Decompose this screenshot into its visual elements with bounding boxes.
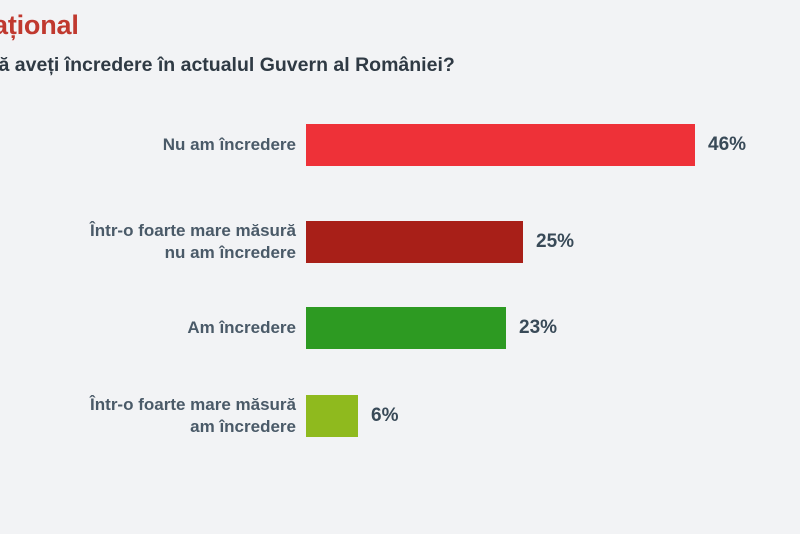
bar-category-label: Am încredere [0,317,306,339]
bar-track: 46% [306,124,800,166]
chart-header: laj național măsură aveți încredere în a… [0,8,800,78]
bar-category-label: Într-o foarte mare măsură nu am încreder… [0,220,306,264]
bar-fill [306,124,695,166]
bar-category-label: Nu am încredere [0,134,306,156]
bar-fill [306,307,506,349]
bar-value-label: 25% [536,231,574,253]
bar-value-label: 23% [519,317,557,339]
chart-title: laj național [0,8,800,42]
bar-value-label: 46% [708,134,746,156]
bar-fill [306,395,358,437]
chart-container: laj național măsură aveți încredere în a… [0,0,800,534]
bar-value-label: 6% [371,405,398,427]
bar-track: 6% [306,395,800,437]
bar-fill [306,221,523,263]
bar-row: Am încredere 23% [0,307,800,349]
bar-chart-plot-area: Nu am încredere 46% Într-o foarte mare m… [0,112,800,472]
chart-subtitle: măsură aveți încredere în actualul Guver… [0,52,800,78]
bar-row: Nu am încredere 46% [0,124,800,166]
bar-category-label: Într-o foarte mare măsură am încredere [0,394,306,438]
bar-row: Într-o foarte mare măsură nu am încreder… [0,220,800,264]
bar-row: Într-o foarte mare măsură am încredere 6… [0,394,800,438]
bar-track: 23% [306,307,800,349]
bar-track: 25% [306,221,800,263]
